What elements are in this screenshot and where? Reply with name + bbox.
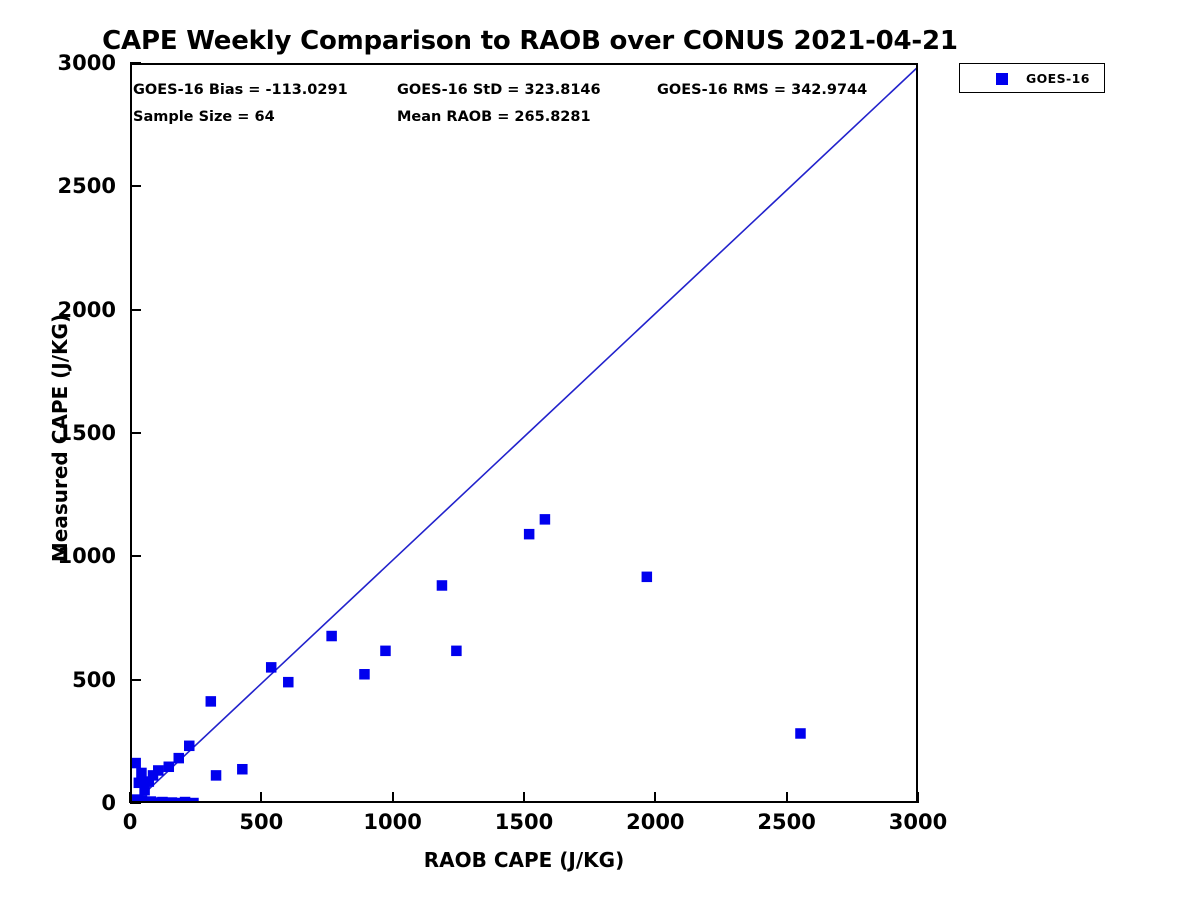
x-tick-0 (129, 792, 131, 803)
stat-bias: GOES-16 Bias = -113.0291 (133, 83, 348, 98)
x-tick-500 (260, 792, 262, 803)
data-point (283, 677, 294, 688)
legend-swatch-goes-16 (996, 73, 1008, 85)
y-tick-3000 (130, 62, 141, 64)
y-tick-1000 (130, 555, 141, 557)
data-point (540, 514, 551, 525)
data-point (326, 631, 337, 642)
data-point (359, 669, 370, 680)
data-point (211, 770, 222, 781)
x-tick-2500 (786, 792, 788, 803)
data-point (164, 762, 175, 773)
y-tick-1500 (130, 432, 141, 434)
x-tick-label-1500: 1500 (495, 812, 553, 833)
y-tick-2500 (130, 185, 141, 187)
y-axis-label: Measured CAPE (J/KG) (48, 68, 72, 808)
data-point (132, 758, 141, 769)
data-point (437, 580, 448, 591)
stat-mean-raob: Mean RAOB = 265.8281 (397, 110, 591, 125)
data-point (153, 765, 164, 776)
legend-box[interactable]: GOES-16 (959, 63, 1105, 93)
reference-line-1to1 (132, 65, 918, 803)
x-tick-1500 (523, 792, 525, 803)
x-tick-label-500: 500 (239, 812, 283, 833)
x-tick-label-2500: 2500 (757, 812, 815, 833)
stat-rms: GOES-16 RMS = 342.9744 (657, 83, 867, 98)
data-point (266, 662, 277, 673)
plot-area (130, 63, 918, 803)
legend-label-goes-16: GOES-16 (1026, 73, 1090, 86)
plot-canvas (132, 65, 918, 803)
x-tick-label-2000: 2000 (626, 812, 684, 833)
x-tick-3000 (917, 792, 919, 803)
x-axis-label: RAOB CAPE (J/KG) (130, 848, 918, 872)
data-point (524, 529, 535, 540)
data-point (184, 741, 195, 752)
data-point (795, 728, 806, 739)
x-tick-2000 (654, 792, 656, 803)
data-point (380, 646, 391, 657)
y-tick-2000 (130, 309, 141, 311)
stat-std: GOES-16 StD = 323.8146 (397, 83, 601, 98)
data-point (188, 798, 199, 803)
data-point (237, 764, 248, 775)
x-tick-label-3000: 3000 (889, 812, 947, 833)
chart-figure: CAPE Weekly Comparison to RAOB over CONU… (0, 0, 1200, 900)
x-tick-label-1000: 1000 (363, 812, 421, 833)
data-point (206, 696, 217, 707)
y-tick-0 (130, 802, 141, 804)
data-point (451, 646, 462, 657)
chart-title: CAPE Weekly Comparison to RAOB over CONU… (0, 26, 1060, 56)
x-tick-label-0: 0 (123, 812, 138, 833)
stat-sample-size: Sample Size = 64 (133, 110, 275, 125)
data-point (174, 753, 185, 764)
x-tick-1000 (392, 792, 394, 803)
y-tick-500 (130, 679, 141, 681)
data-point (642, 572, 653, 583)
